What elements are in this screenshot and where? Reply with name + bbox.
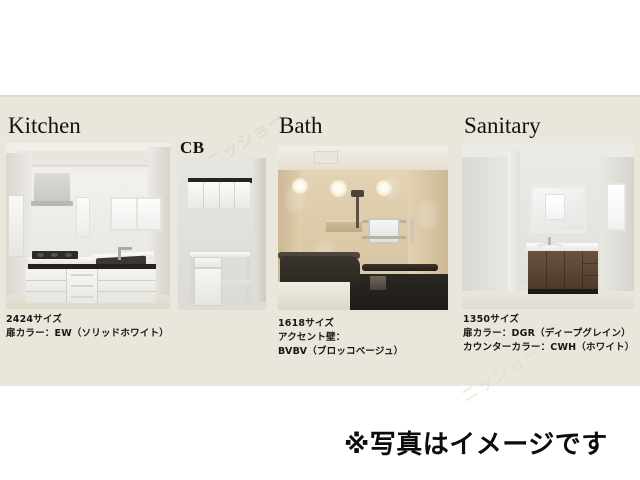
watermark-circle-icon: [124, 46, 152, 74]
section-heading-sanitary: Sanitary: [464, 113, 541, 139]
section-heading-bath: Bath: [279, 113, 322, 139]
kitchen-photo: [6, 143, 170, 309]
caption-bath: 1618サイズ アクセント壁： BVBV（ブロッコベージュ）: [278, 317, 463, 359]
watermark-circle-icon: [392, 398, 418, 424]
bath-photo: [278, 146, 448, 310]
image-disclaimer-notice: ※写真はイメージです: [344, 424, 608, 461]
section-heading-kitchen: Kitchen: [8, 113, 81, 139]
watermark-circle-icon: [384, 46, 412, 74]
watermark-circle-icon: [120, 398, 146, 424]
slide-canvas: ニッショー ニッショー ニッショー ニッショー ニッショー ニッショー Kitc…: [0, 0, 640, 480]
watermark: ニッショー: [70, 26, 160, 95]
section-subheading-cb: CB: [180, 138, 205, 158]
sanitary-photo: [462, 143, 634, 309]
watermark: ニッショー: [64, 378, 154, 447]
counter-cabinet-photo: [178, 158, 266, 310]
caption-sanitary: 1350サイズ 扉カラー：DGR（ディープグレイン） カウンターカラー：CWH（…: [463, 313, 640, 355]
watermark: ニッショー: [330, 26, 420, 95]
caption-kitchen: 2424サイズ 扉カラー：EW（ソリッドホワイト）: [6, 313, 236, 341]
